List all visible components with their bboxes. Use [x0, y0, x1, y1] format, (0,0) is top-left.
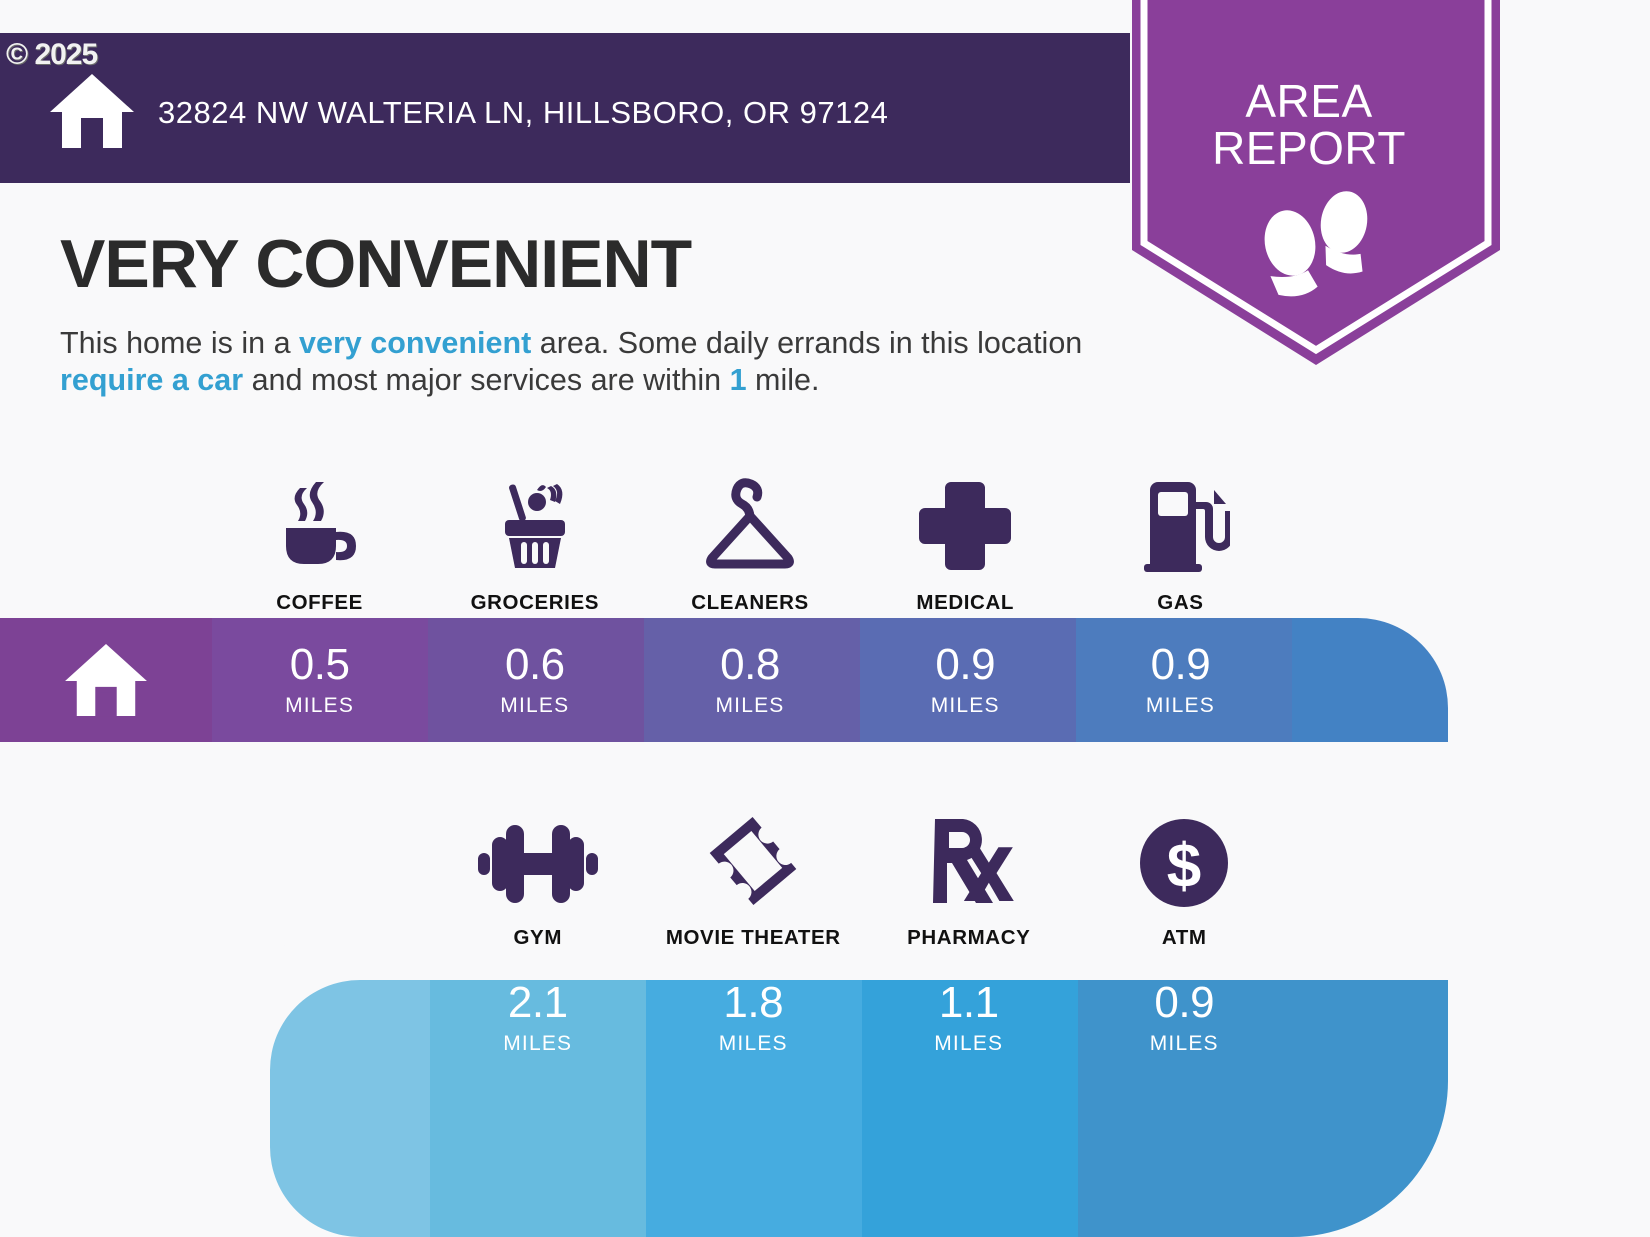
distance-band-bottom — [270, 956, 1448, 1237]
medical-cross-icon — [915, 471, 1015, 576]
amenity-cleaners: CLEANERS — [642, 455, 857, 615]
badge-line-2: REPORT — [1118, 125, 1500, 172]
home-icon — [48, 72, 136, 150]
amenity-label: COFFEE — [276, 591, 363, 615]
dumbbell-icon — [476, 806, 600, 911]
groceries-icon — [485, 471, 585, 576]
badge-line-1: AREA — [1118, 78, 1500, 125]
movie-ticket-icon — [703, 806, 803, 911]
copyright-label: © 2025 — [6, 40, 97, 70]
body-highlight-2: require a car — [60, 363, 243, 397]
start-marker — [0, 618, 212, 742]
body-text-4: mile. — [747, 363, 820, 397]
amenity-movie-theater: MOVIE THEATER — [646, 790, 862, 950]
amenity-label: MOVIE THEATER — [666, 926, 841, 950]
home-icon — [63, 642, 149, 718]
amenity-medical: MEDICAL — [858, 455, 1073, 615]
amenity-groceries: GROCERIES — [427, 455, 642, 615]
amenity-label: GYM — [514, 926, 563, 950]
amenity-gym: GYM — [430, 790, 646, 950]
body-text-1: This home is in a — [60, 326, 299, 360]
amenity-label: GROCERIES — [471, 591, 599, 615]
atm-dollar-icon: $ — [1134, 806, 1234, 911]
amenity-atm: $ ATM — [1077, 790, 1293, 950]
area-report-badge: AREA REPORT — [1118, 0, 1500, 365]
body-text-2: area. Some daily errands in this locatio… — [531, 326, 1082, 360]
amenity-label: PHARMACY — [907, 926, 1030, 950]
distance-band-top — [0, 618, 1448, 742]
amenity-pharmacy: PHARMACY — [861, 790, 1077, 950]
svg-text:$: $ — [1167, 832, 1201, 901]
amenity-icon-row-bottom: GYM MOVIE THEATER PHA — [430, 790, 1292, 950]
coffee-icon — [270, 471, 370, 576]
body-highlight-3: 1 — [730, 363, 747, 397]
property-address: 32824 NW WALTERIA LN, HILLSBORO, OR 9712… — [158, 95, 888, 131]
page-title: VERY CONVENIENT — [60, 230, 691, 298]
rx-icon — [919, 806, 1019, 911]
amenity-label: ATM — [1162, 926, 1207, 950]
amenity-label: GAS — [1157, 591, 1203, 615]
amenity-coffee: COFFEE — [212, 455, 427, 615]
gas-pump-icon — [1130, 471, 1230, 576]
body-highlight-1: very convenient — [299, 326, 531, 360]
amenity-label: MEDICAL — [916, 591, 1014, 615]
area-report-page: © 2025 32824 NW WALTERIA LN, HILLSBORO, … — [0, 0, 1650, 1237]
amenity-icon-row-top: COFFEE GROCERIES — [212, 455, 1288, 615]
badge-title: AREA REPORT — [1118, 78, 1500, 172]
body-text-3: and most major services are within — [243, 363, 729, 397]
amenity-gas: GAS — [1073, 455, 1288, 615]
amenity-label: CLEANERS — [691, 591, 809, 615]
hanger-icon — [694, 471, 806, 576]
summary-paragraph: This home is in a very convenient area. … — [60, 325, 1105, 399]
